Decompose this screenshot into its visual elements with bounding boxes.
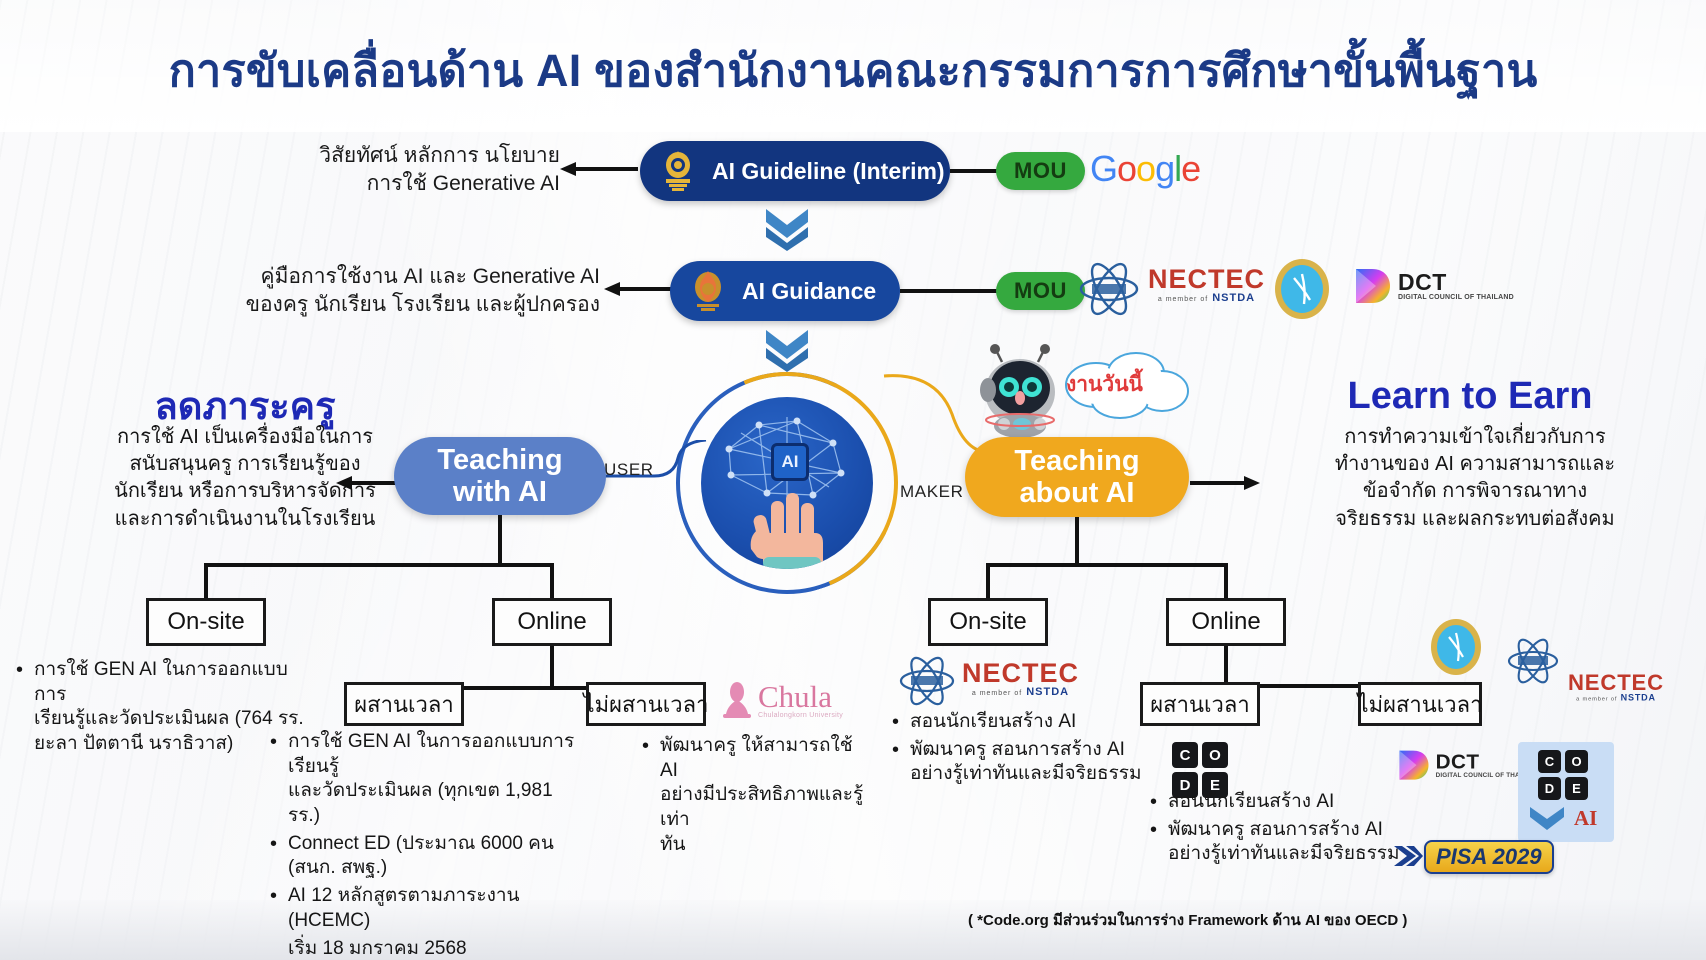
ministry-emblem-icon (688, 269, 728, 313)
node-teaching-about-ai[interactable]: Teaching about AI (965, 437, 1189, 517)
hand-illustration-icon (701, 483, 873, 569)
dct-mark-icon (1352, 266, 1392, 306)
node-teaching-with-ai[interactable]: Teaching with AI (394, 437, 606, 515)
mou-badge-guideline[interactable]: MOU (996, 152, 1085, 190)
right-online-stem (1224, 646, 1228, 686)
chula-mark-icon (720, 680, 754, 720)
teaching-about-ai-line2: about AI (1020, 477, 1135, 509)
guideline-mou-connector (950, 169, 1000, 173)
page-title: การขับเคลื่อนด้าน AI ของสำนักงานคณะกรรมก… (0, 34, 1706, 106)
nectec-logo: NECTEC a member of NSTDA (1148, 266, 1265, 304)
code-letter: C (1538, 750, 1561, 773)
chula-logo-sub: Chulalongkorn University (758, 712, 843, 719)
nstda-atom-icon-2 (898, 652, 956, 710)
right-branch-heading: Learn to Earn (1290, 375, 1650, 418)
right-tree-hbar (988, 563, 1226, 567)
chula-logo: Chula Chulalongkorn University (720, 680, 843, 720)
list-item: Connect ED (ประมาณ 6000 คน (สนก. สพฐ.) (268, 832, 588, 881)
left-tree-hbar (206, 563, 554, 567)
ai-chip-icon: AI (771, 443, 809, 481)
nectec-logo-3: NECTEC a member of NSTDA (1568, 672, 1664, 703)
code-letter: O (1202, 742, 1228, 768)
guidance-mou-connector (900, 289, 998, 293)
user-connector-label: USER (604, 460, 654, 480)
left-online-box[interactable]: Online (492, 598, 612, 646)
left-async-box[interactable]: ไม่ผสานเวลา (586, 682, 706, 726)
dct-logo-sub: DIGITAL COUNCIL OF THAILAND (1398, 294, 1514, 301)
left-sync-box[interactable]: ผสานเวลา (344, 682, 464, 726)
list-item: พัฒนาครู สอนการสร้าง AI อย่างรู้เท่าทันแ… (890, 738, 1160, 787)
nectec-logo-text-2: NECTEC (962, 660, 1079, 687)
right-async-box[interactable]: ไม่ผสานเวลา (1358, 682, 1482, 726)
list-item: การใช้ GEN AI ในการออกแบบการเรียนรู้ และ… (268, 730, 588, 829)
node-ai-guidance[interactable]: AI Guidance (670, 261, 900, 321)
list-item: สอนนักเรียนสร้าง AI (890, 710, 1160, 735)
node-ai-guideline[interactable]: AI Guideline (Interim) (640, 141, 950, 201)
right-onsite-drop (986, 563, 990, 601)
code-ai-label: AI (1574, 806, 1597, 831)
robot-bubble-text: งานวันนี้ (1066, 368, 1143, 401)
right-onsite-box[interactable]: On-site (928, 598, 1048, 646)
pisa-chevron-icon (1392, 842, 1424, 872)
pisa-badge: PISA 2029 (1424, 840, 1554, 874)
google-logo: Google (1090, 148, 1200, 190)
hub-core-circle: AI (701, 397, 873, 569)
right-tree-stem (1075, 517, 1079, 565)
node-ai-guideline-label: AI Guideline (Interim) (712, 158, 945, 185)
teaching-about-ai-line1: Teaching (1014, 445, 1139, 477)
right-online-box[interactable]: Online (1166, 598, 1286, 646)
dct-logo-text-2: DCT (1436, 750, 1480, 773)
chevron-down-icon-3 (1528, 804, 1566, 834)
background-bottom-fade (0, 900, 1706, 960)
right-sync-bullets: สอนนักเรียนสร้าง AI พัฒนาครู สอนการสร้าง… (1148, 790, 1418, 870)
nectec-logo-text: NECTEC (1148, 266, 1265, 293)
dct-logo: DCT DIGITAL COUNCIL OF THAILAND (1352, 266, 1514, 306)
dct-mark-icon-2 (1396, 748, 1430, 782)
list-item: AI 12 หลักสูตรตามภาระงาน (HCEMC) (268, 884, 588, 933)
code-letter: D (1538, 777, 1561, 800)
royal-seal-icon-2 (1428, 618, 1484, 676)
left-online-drop (550, 563, 554, 601)
left-sync-start-date: เริ่ม 18 มกราคม 2568 (268, 937, 588, 960)
nectec-logo-2: NECTEC a member of NSTDA (962, 660, 1079, 698)
right-onsite-bullets: สอนนักเรียนสร้าง AI พัฒนาครู สอนการสร้าง… (890, 710, 1160, 790)
maker-connector-label: MAKER (900, 482, 963, 502)
nstda-atom-icon-3 (1506, 634, 1560, 688)
list-item: พัฒนาครู สอนการสร้าง AI อย่างรู้เท่าทันแ… (1148, 818, 1418, 867)
code-letter: C (1172, 742, 1198, 768)
teaching-with-ai-line1: Teaching (437, 444, 562, 476)
nectec-logo-sub: a member of NSTDA (1158, 293, 1255, 304)
node-ai-guidance-label: AI Guidance (742, 278, 876, 305)
nectec-logo-text-3: NECTEC (1568, 672, 1664, 694)
mou-badge-guidance[interactable]: MOU (996, 272, 1085, 310)
right-branch-arrow-icon (1190, 472, 1262, 494)
code-ai-panel: C O D E AI (1518, 742, 1614, 842)
left-async-bullets: พัฒนาครู ให้สามารถใช้ AI อย่างมีประสิทธิ… (640, 734, 870, 860)
nectec-logo-sub-3: a member of NSTDA (1576, 694, 1656, 703)
left-online-stem (550, 646, 554, 688)
chevron-down-icon-1 (762, 205, 812, 253)
left-sync-bullets: การใช้ GEN AI ในการออกแบบการเรียนรู้ และ… (268, 730, 588, 960)
right-branch-body: การทำความเข้าใจเกี่ยวกับการ ทำงานของ AI … (1275, 424, 1675, 533)
code-org-logo-2: C O D E (1538, 750, 1588, 800)
royal-seal-icon (1272, 258, 1332, 320)
chula-logo-text: Chula (758, 679, 832, 714)
chevron-down-icon-2 (762, 326, 812, 374)
right-online-drop (1224, 563, 1228, 601)
nstda-atom-icon (1078, 258, 1140, 320)
teaching-with-ai-line2: with AI (453, 476, 547, 508)
left-onsite-drop (204, 563, 208, 601)
code-letter: O (1565, 750, 1588, 773)
guideline-arrow-icon (560, 158, 640, 180)
guideline-description: วิสัยทัศน์ หลักการ นโยบาย การใช้ Generat… (270, 142, 560, 198)
nectec-logo-sub-2: a member of NSTDA (972, 687, 1069, 698)
left-branch-arrow-icon (336, 472, 398, 494)
footnote-text: ( *Code.org มีส่วนร่วมในการร่าง Framewor… (968, 908, 1407, 932)
code-letter: E (1565, 777, 1588, 800)
left-onsite-box[interactable]: On-site (146, 598, 266, 646)
infographic-canvas: การขับเคลื่อนด้าน AI ของสำนักงานคณะกรรมก… (0, 0, 1706, 960)
left-tree-stem (498, 515, 502, 565)
garuda-emblem-icon (658, 149, 698, 193)
guidance-description: คู่มือการใช้งาน AI และ Generative AI ของ… (210, 263, 600, 319)
list-item: พัฒนาครู ให้สามารถใช้ AI อย่างมีประสิทธิ… (640, 734, 870, 857)
list-item: สอนนักเรียนสร้าง AI (1148, 790, 1418, 815)
dct-logo-text: DCT (1398, 269, 1447, 295)
